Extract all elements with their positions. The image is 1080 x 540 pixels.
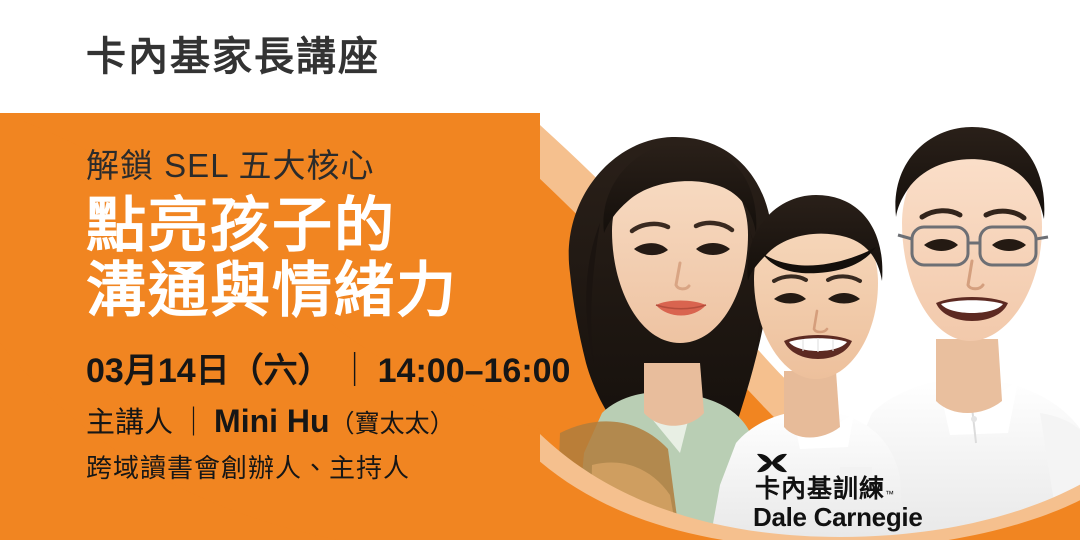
datetime-separator: ｜ [332, 351, 378, 392]
logo-chinese-text: 卡內基訓練™ [753, 476, 923, 502]
dale-carnegie-logo: 卡內基訓練™ Dale Carnegie [753, 452, 923, 532]
speaker-separator: ｜ [173, 405, 214, 441]
event-time: 14:00–16:00 [378, 352, 571, 390]
main-copy: 解鎖 SEL 五大核心 點亮孩子的 溝通與情緒力 03月14日（六）｜14:00… [86, 145, 556, 484]
page-title: 卡內基家長講座 [86, 33, 380, 81]
promo-banner: 卡內基家長講座 解鎖 SEL 五大核心 點亮孩子的 溝通與情緒力 03月14日（… [0, 0, 1080, 540]
header-band: 卡內基家長講座 [0, 0, 1080, 113]
subtitle: 解鎖 SEL 五大核心 [86, 145, 556, 186]
speaker-role: 跨域讀書會創辦人、主持人 [86, 452, 556, 485]
event-date: 03月14日（六） [86, 352, 332, 390]
headline-line-1: 點亮孩子的 [86, 192, 556, 259]
logo-english-text: Dale Carnegie [753, 503, 923, 532]
logo-chinese-label: 卡內基訓練 [755, 475, 885, 503]
headline-line-2: 溝通與情緒力 [86, 257, 556, 324]
speaker-name: Mini Hu [214, 403, 330, 439]
speaker-label: 主講人 [86, 407, 173, 439]
speaker-alias: （寶太太） [330, 410, 455, 438]
trademark-symbol: ™ [885, 489, 895, 499]
butterfly-x-icon [755, 452, 789, 474]
event-datetime: 03月14日（六）｜14:00–16:00 [86, 351, 556, 392]
speaker-line: 主講人｜Mini Hu（寶太太） [86, 401, 556, 441]
